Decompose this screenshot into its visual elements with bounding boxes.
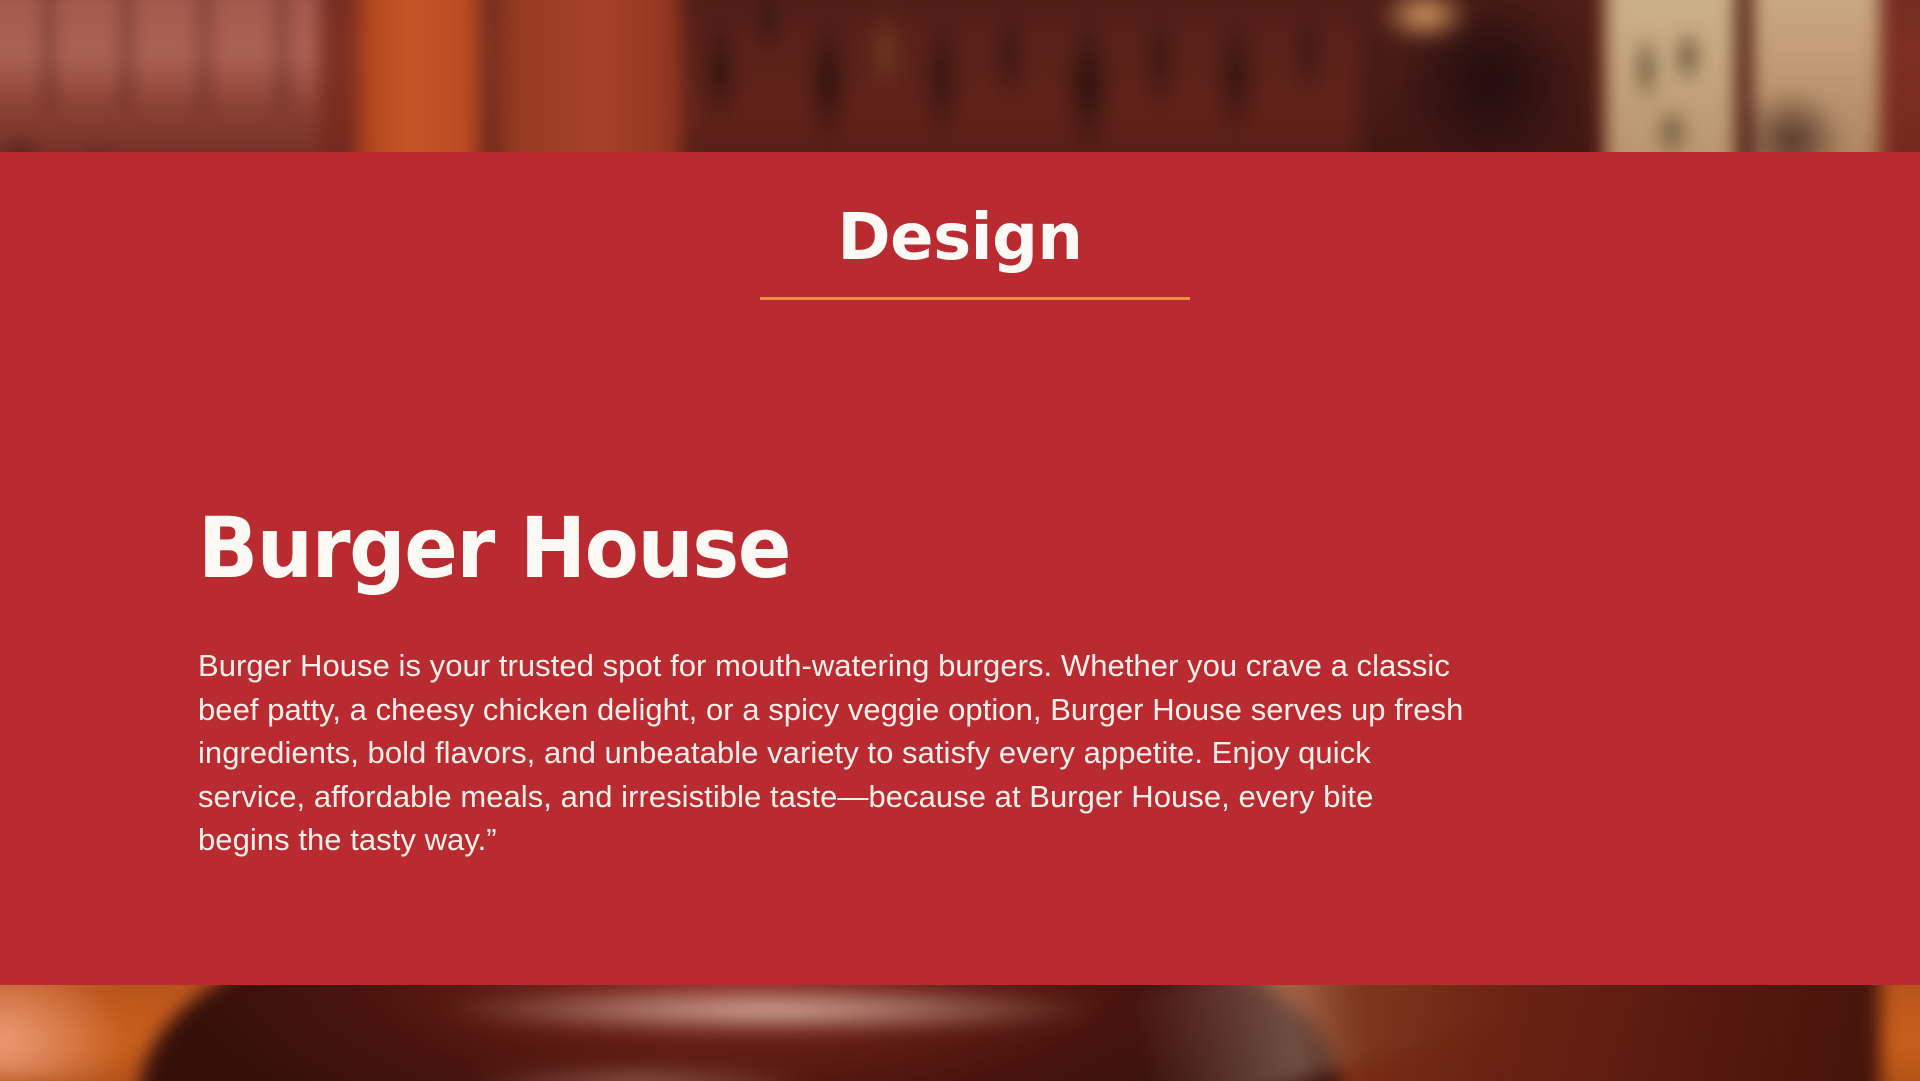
section-title: Design xyxy=(0,202,1920,274)
page-title: Burger House xyxy=(198,500,790,596)
photo-sign-lettering xyxy=(1626,8,1718,158)
slide-canvas: Design Burger House Burger House is your… xyxy=(0,0,1920,1081)
photo-left-wall-slats xyxy=(0,0,314,110)
body-paragraph: Burger House is your trusted spot for mo… xyxy=(198,644,1468,862)
red-content-panel: Design Burger House Burger House is your… xyxy=(0,152,1920,985)
photo-plate-rim-highlight xyxy=(260,973,1240,1053)
section-title-underline xyxy=(760,297,1190,300)
section-title-block: Design xyxy=(0,202,1920,274)
